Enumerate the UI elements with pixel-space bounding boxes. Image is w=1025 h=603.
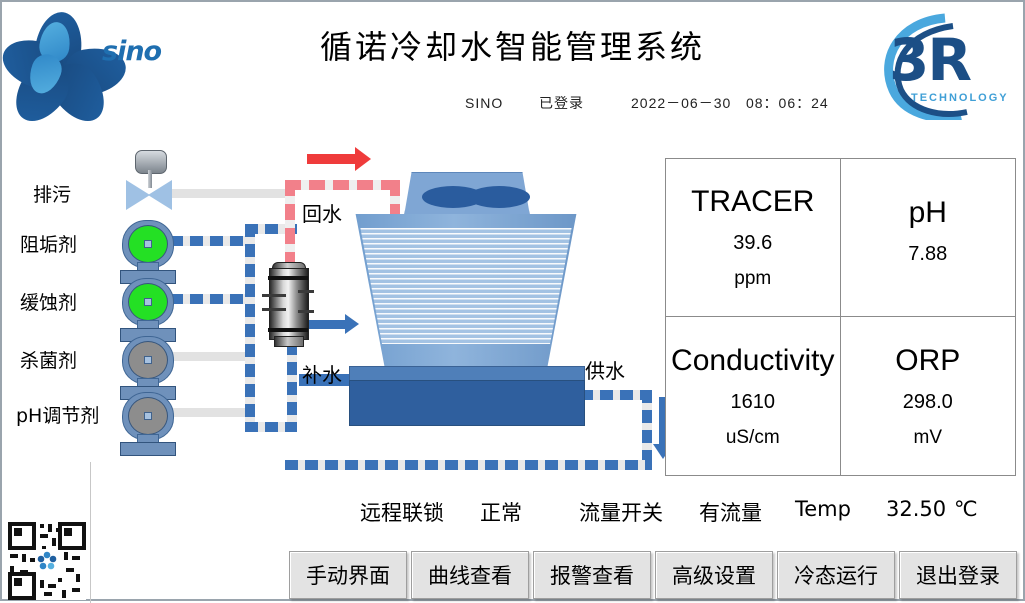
readout-value: 1610 (731, 391, 776, 414)
device-label-ph-adjuster: pH调节剂 (16, 401, 99, 428)
manual-interface-button[interactable]: 手动界面 (289, 551, 407, 599)
datetime: 2022－06－30 08：06：24 (631, 93, 829, 113)
trend-view-button[interactable]: 曲线查看 (411, 551, 529, 599)
pipe-antiscalant-active (170, 236, 254, 246)
pump-base-icon (120, 442, 176, 456)
status-temp-unit: ℃ (954, 497, 978, 521)
pipe-biocide-idle (170, 352, 250, 361)
makeup-flow-arrow-icon (307, 320, 347, 329)
readout-unit: uS/cm (726, 427, 780, 449)
readout-conductivity: Conductivity 1610 uS/cm (666, 317, 841, 475)
user-name: SINO (465, 95, 503, 111)
device-label-blowdown: 排污 (33, 180, 71, 207)
readout-ph: pH 7.88 (841, 159, 1016, 317)
pipe-blowdown (170, 189, 285, 198)
pipe-supply-bottom (285, 460, 652, 470)
cooling-tower-basin (349, 380, 585, 426)
readout-unit: ppm (734, 268, 771, 290)
hmi-screen: sino 循诺冷却水智能管理系统 SINO 已登录 2022－06－30 08：… (0, 0, 1025, 601)
vessel-bottom-cap-icon (274, 336, 304, 347)
readout-name: TRACER (691, 185, 814, 219)
device-label-biocide: 杀菌剂 (20, 346, 77, 373)
device-label-antiscalant: 阻垢剂 (20, 230, 77, 257)
vessel-band-icon (268, 328, 308, 332)
readout-value: 7.88 (908, 243, 947, 266)
pipe-vessel-down (287, 342, 297, 432)
label-makeup-water: 补水 (302, 359, 342, 388)
readout-name: pH (909, 196, 947, 230)
panel-divider (90, 462, 91, 603)
pump-biocide[interactable] (120, 336, 174, 400)
readout-name: Conductivity (671, 344, 834, 378)
pipe-riser (245, 224, 255, 432)
label-return-water: 回水 (302, 198, 342, 227)
readout-unit: mV (914, 427, 943, 449)
status-temp-value: 32.50 (886, 497, 946, 521)
qr-center-logo (35, 549, 59, 573)
pump-inhibitor[interactable] (120, 278, 174, 342)
vessel-nozzle-icon (262, 294, 286, 297)
pipe-supply-right (642, 390, 652, 470)
pipe-ph-idle (170, 408, 250, 417)
vessel-nozzle-icon (298, 310, 314, 313)
status-remote-interlock-label: 远程联锁 (360, 497, 444, 527)
valve-body-right-icon (148, 180, 172, 210)
pipe-return-right (390, 180, 400, 214)
valve-blowdown[interactable] (114, 150, 184, 208)
filter-vessel[interactable] (266, 260, 310, 346)
status-temp-label: Temp (795, 497, 851, 521)
button-bar: 手动界面 曲线查看 报警查看 高级设置 冷态运行 退出登录 (289, 551, 1017, 599)
qr-finder-icon (8, 522, 36, 550)
readout-orp: ORP 298.0 mV (841, 317, 1016, 475)
readout-value: 298.0 (903, 391, 953, 414)
pump-hub-icon (144, 240, 152, 248)
vessel-nozzle-icon (298, 290, 314, 293)
device-label-inhibitor: 缓蚀剂 (20, 288, 77, 315)
sino-flower-icon (37, 551, 57, 571)
label-supply-water: 供水 (585, 355, 625, 384)
pump-hub-icon (144, 298, 152, 306)
pipe-return-left (285, 180, 295, 264)
3r-logo-text: 3R (889, 26, 970, 94)
alarm-view-button[interactable]: 报警查看 (533, 551, 651, 599)
pump-ph-adjuster[interactable] (120, 392, 174, 456)
qr-finder-icon (58, 522, 86, 550)
readout-tracer: TRACER 39.6 ppm (666, 159, 841, 317)
pipe-return-top (285, 180, 400, 190)
qr-finder-icon (8, 572, 36, 600)
measurement-panel: TRACER 39.6 ppm pH 7.88 Conductivity 161… (665, 158, 1016, 476)
pipe-inhibitor-active (170, 294, 254, 304)
3r-technology-logo: 3R TECHNOLOGY (867, 4, 1017, 120)
fan-blade-icon (468, 186, 530, 208)
cold-start-button[interactable]: 冷态运行 (777, 551, 895, 599)
status-remote-interlock-value: 正常 (480, 497, 522, 527)
status-bar: 远程联锁 正常 流量开关 有流量 Temp 32.50 ℃ (2, 497, 1023, 531)
pump-hub-icon (144, 412, 152, 420)
vessel-nozzle-icon (262, 308, 286, 311)
login-status: 已登录 (539, 93, 584, 113)
readout-name: ORP (895, 344, 960, 378)
readout-value: 39.6 (733, 232, 772, 255)
logout-button[interactable]: 退出登录 (899, 551, 1017, 599)
status-flow-switch-value: 有流量 (699, 497, 762, 527)
status-flow-switch-label: 流量开关 (579, 497, 663, 527)
advanced-settings-button[interactable]: 高级设置 (655, 551, 773, 599)
3r-logo-subtext: TECHNOLOGY (911, 92, 1009, 104)
valve-body-left-icon (126, 180, 150, 210)
pump-antiscalant[interactable] (120, 220, 174, 284)
qr-code (8, 522, 86, 600)
return-flow-arrow-icon (307, 154, 357, 164)
pump-hub-icon (144, 356, 152, 364)
vessel-band-icon (268, 276, 308, 280)
cooling-tower-fill-fins (346, 228, 586, 344)
